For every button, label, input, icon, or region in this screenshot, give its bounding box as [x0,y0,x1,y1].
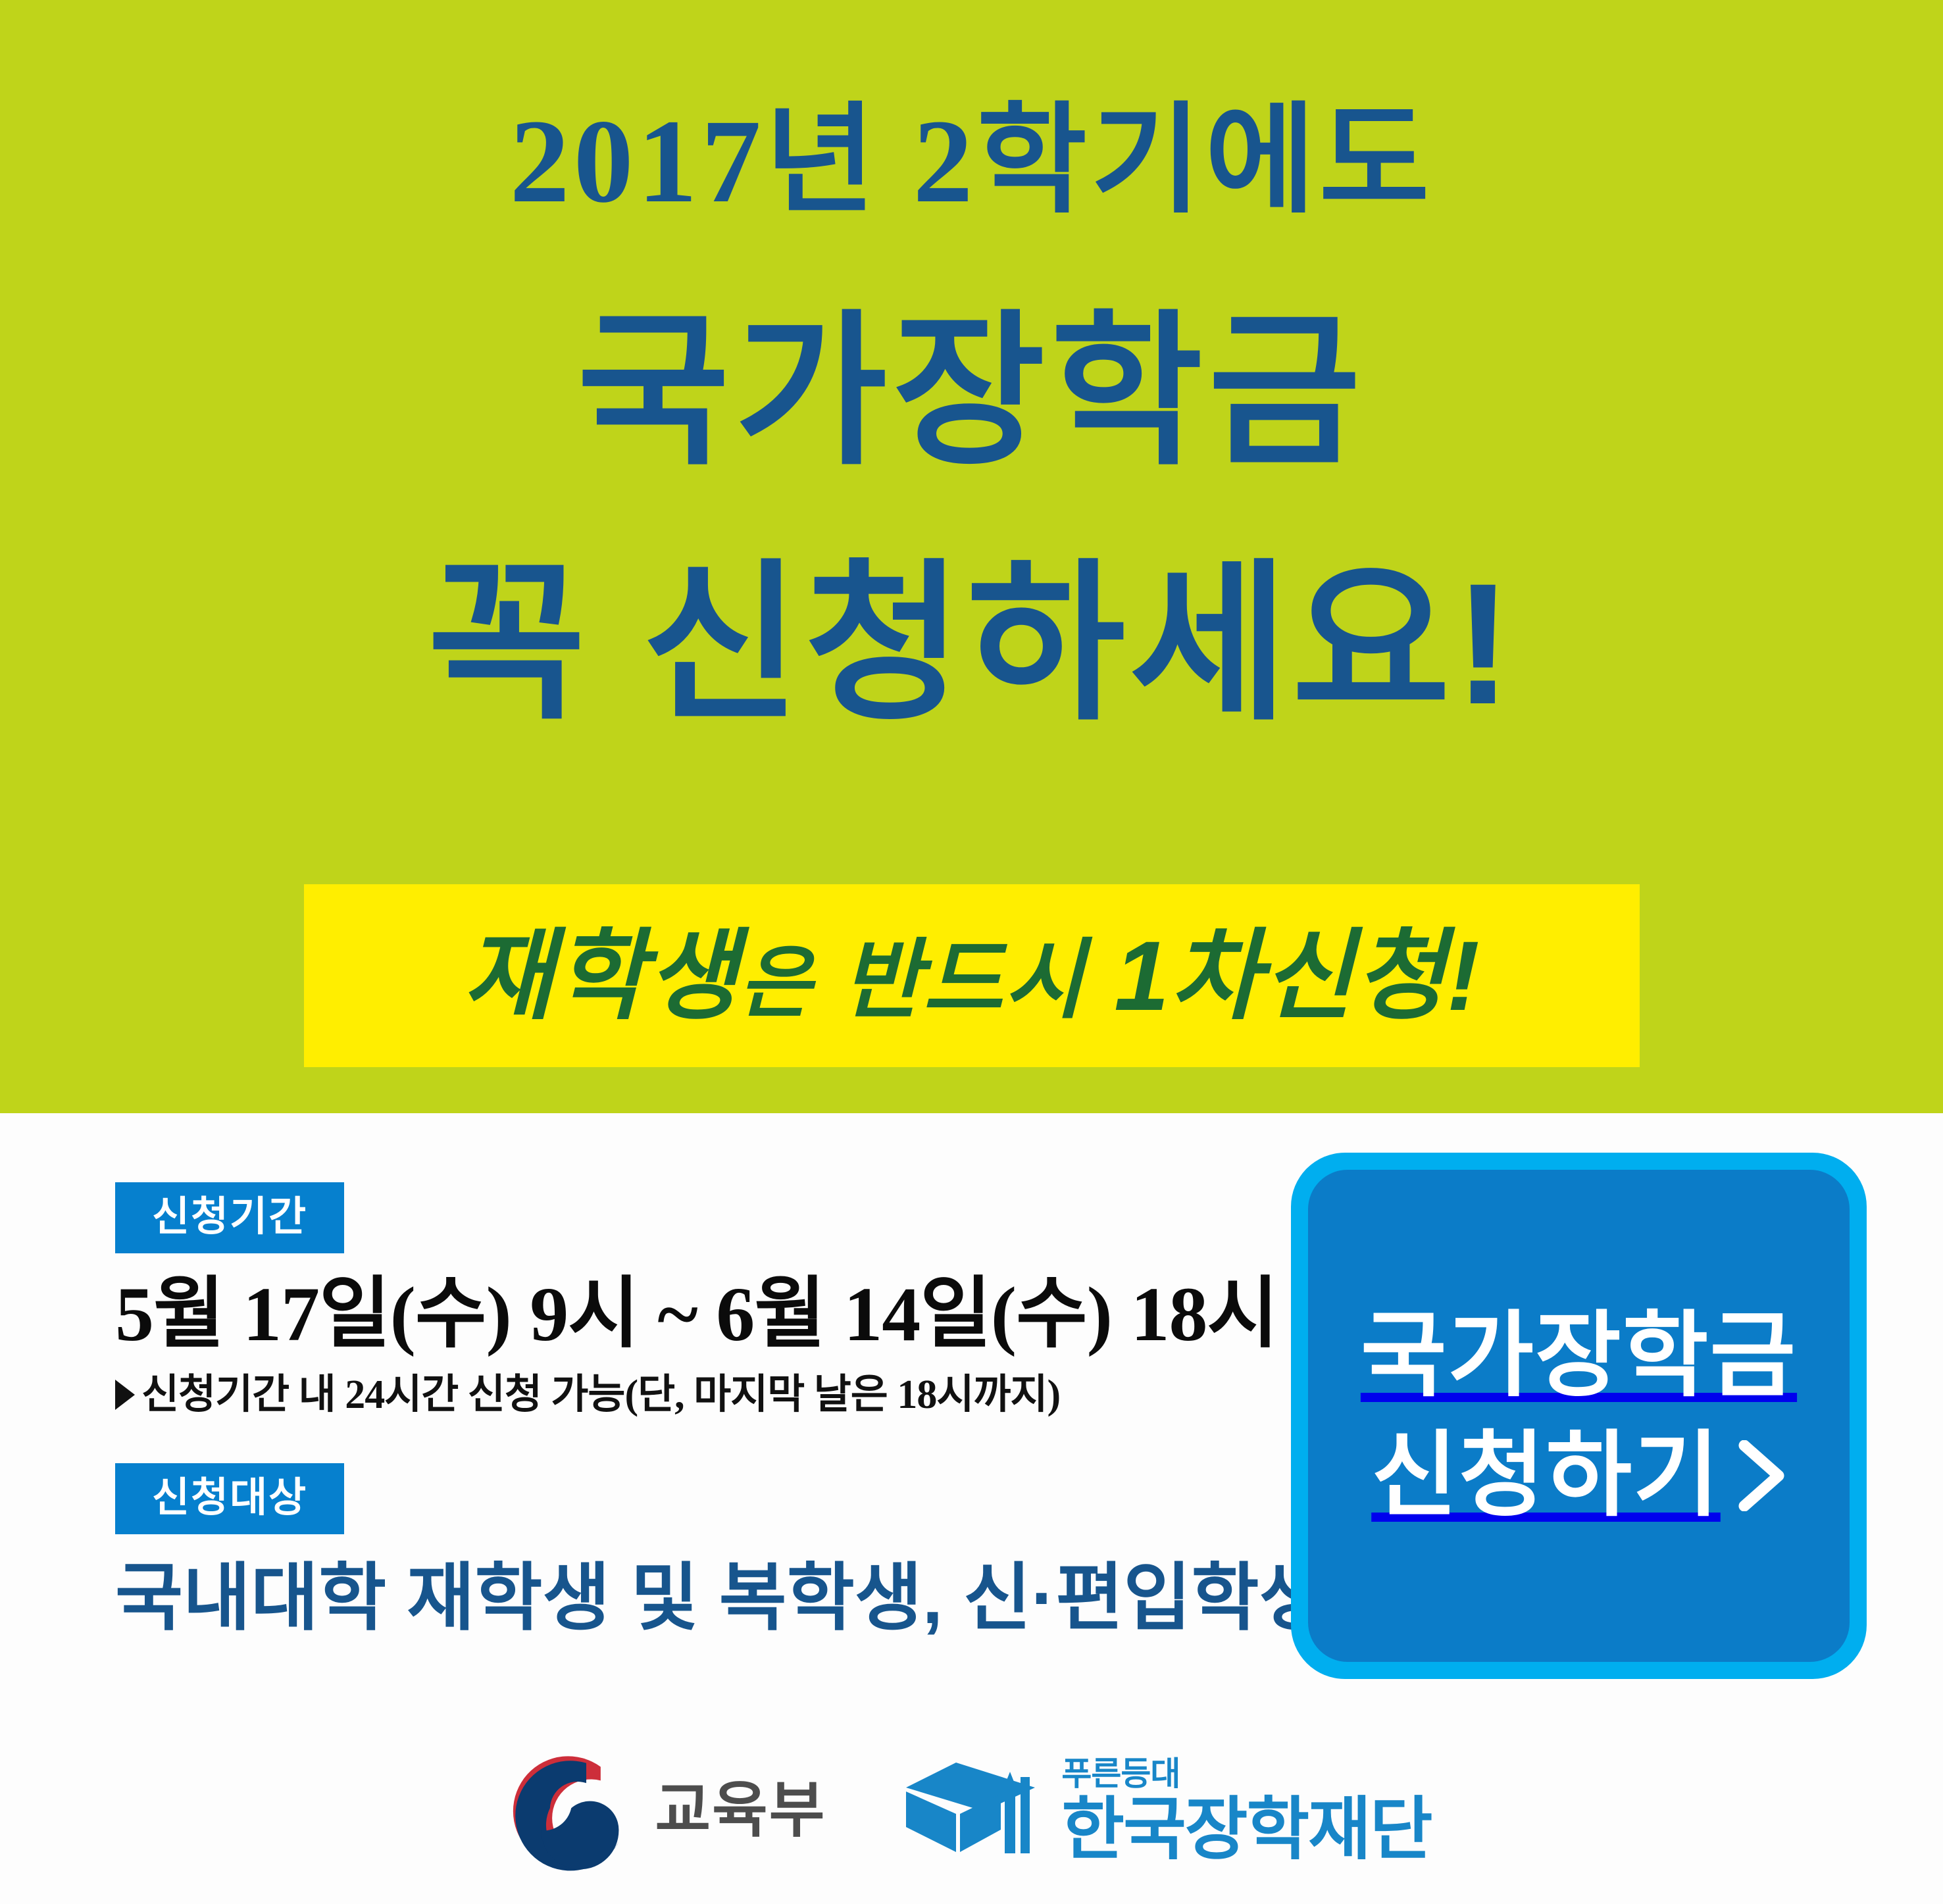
application-target-value: 국내대학 재학생 및 복학생, 신·편입학생 [115,1559,1273,1638]
apply-button-line-2: 신청하기 [1371,1416,1721,1536]
apply-button-line-2-row: 신청하기 [1371,1416,1786,1536]
highlight-bar-text: 재학생은 반드시 1차신청! [463,926,1481,1025]
highlight-part-4: 1차신청! [1114,920,1480,1031]
application-period-note: 신청기간 내 24시간 신청 가능(단, 마지막 날은 18시까지) [115,1372,1273,1417]
hero-headline-line-2: 꼭 신청하세요! [0,558,1943,730]
info-section: 신청기간 5월 17일(수) 9시 ~ 6월 14일(수) 18시 신청기간 내… [0,1113,1943,1904]
korea-government-taegeuk-icon [511,1748,636,1873]
hero-section: 2017년 2학기에도 국가장학금 꼭 신청하세요! 재학생은 반드시 1차신청… [0,0,1943,1113]
triangle-bullet-icon [115,1380,135,1410]
kosaf-logo: 푸른등대 한국장학재단 [905,1753,1431,1868]
application-target-block: 신청대상 국내대학 재학생 및 복학생, 신·편입학생 [115,1463,1273,1638]
footer-logos: 교육부 푸른등대 한국장학재단 [0,1728,1943,1893]
hero-headline-line-1: 국가장학금 [0,309,1943,475]
kosaf-wordmark: 푸른등대 한국장학재단 [1061,1757,1431,1864]
chip-application-target: 신청대상 [115,1463,344,1534]
ministry-of-education-name: 교육부 [655,1780,826,1841]
kosaf-sub-name: 푸른등대 [1061,1757,1431,1790]
highlight-part-3: 반드시 [842,932,1085,1028]
hero-kicker: 2017년 2학기에도 [0,102,1943,222]
apply-button-line-1: 국가장학금 [1361,1296,1797,1416]
application-period-value: 5월 17일(수) 9시 ~ 6월 14일(수) 18시 [115,1273,1273,1355]
graduation-cap-lighthouse-icon [905,1753,1043,1868]
application-period-note-text: 신청기간 내 24시간 신청 가능(단, 마지막 날은 18시까지) [141,1372,1060,1417]
chevron-right-icon [1738,1440,1786,1511]
application-period-block: 신청기간 5월 17일(수) 9시 ~ 6월 14일(수) 18시 신청기간 내… [115,1182,1273,1417]
apply-button-inner[interactable]: 국가장학금 신청하기 [1308,1170,1850,1662]
info-details: 신청기간 5월 17일(수) 9시 ~ 6월 14일(수) 18시 신청기간 내… [115,1182,1273,1638]
highlight-part-2: 은 [739,939,813,1027]
highlight-part-1: 재학생 [463,920,739,1031]
apply-scholarship-button[interactable]: 국가장학금 신청하기 [1291,1153,1867,1679]
ministry-of-education-logo: 교육부 [511,1748,826,1873]
scholarship-banner: 2017년 2학기에도 국가장학금 꼭 신청하세요! 재학생은 반드시 1차신청… [0,0,1943,1904]
highlight-bar: 재학생은 반드시 1차신청! [304,884,1640,1067]
kosaf-name: 한국장학재단 [1061,1795,1431,1864]
chip-application-period: 신청기간 [115,1182,344,1253]
